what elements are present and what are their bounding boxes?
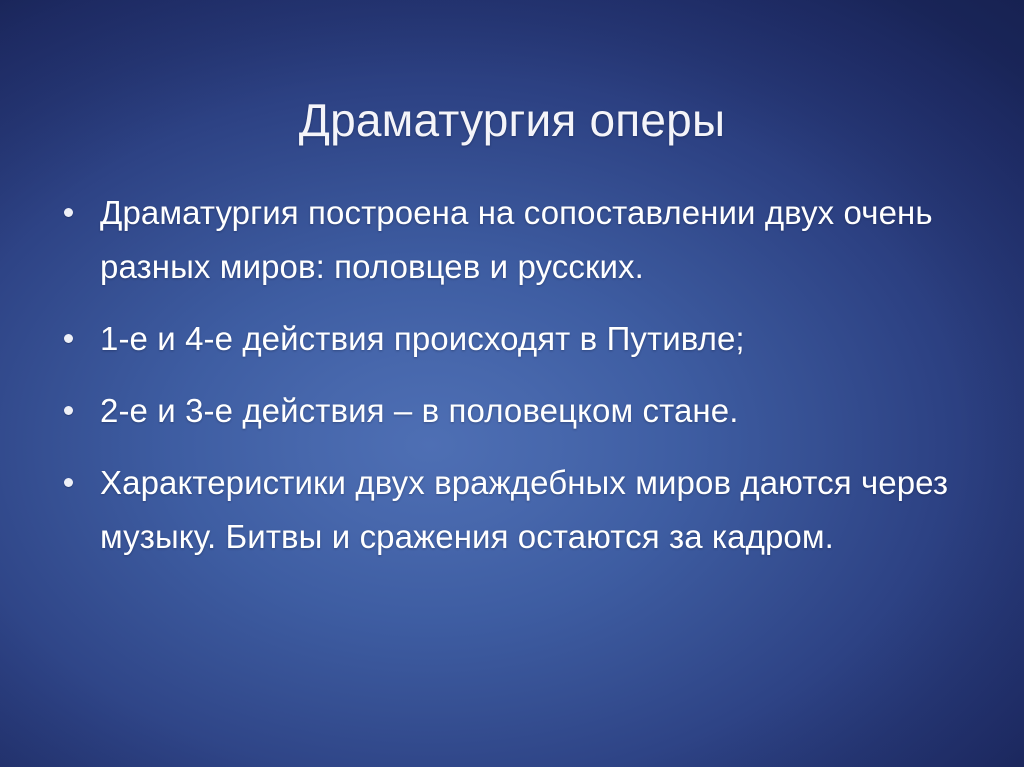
slide-content-area: Драматургия оперы Драматургия построена … (0, 0, 1024, 767)
list-item: 2-е и 3-е действия – в половецком стане. (52, 384, 952, 438)
list-item-label: Характеристики двух враждебных миров даю… (100, 456, 952, 564)
bullet-list: Драматургия построена на сопоставлении д… (52, 186, 952, 564)
presentation-slide: Драматургия оперы Драматургия построена … (0, 0, 1024, 767)
page-title: Драматургия оперы (0, 94, 1024, 147)
list-item-label: 1-е и 4-е действия происходят в Путивле; (100, 312, 952, 366)
list-item: 1-е и 4-е действия происходят в Путивле; (52, 312, 952, 366)
list-item: Характеристики двух враждебных миров даю… (52, 456, 952, 564)
list-item-label: Драматургия построена на сопоставлении д… (100, 186, 952, 294)
bullet-dot-icon (64, 208, 73, 217)
list-item: Драматургия построена на сопоставлении д… (52, 186, 952, 294)
list-item-label: 2-е и 3-е действия – в половецком стане. (100, 384, 952, 438)
bullet-dot-icon (64, 406, 73, 415)
bullet-dot-icon (64, 334, 73, 343)
bullet-dot-icon (64, 478, 73, 487)
